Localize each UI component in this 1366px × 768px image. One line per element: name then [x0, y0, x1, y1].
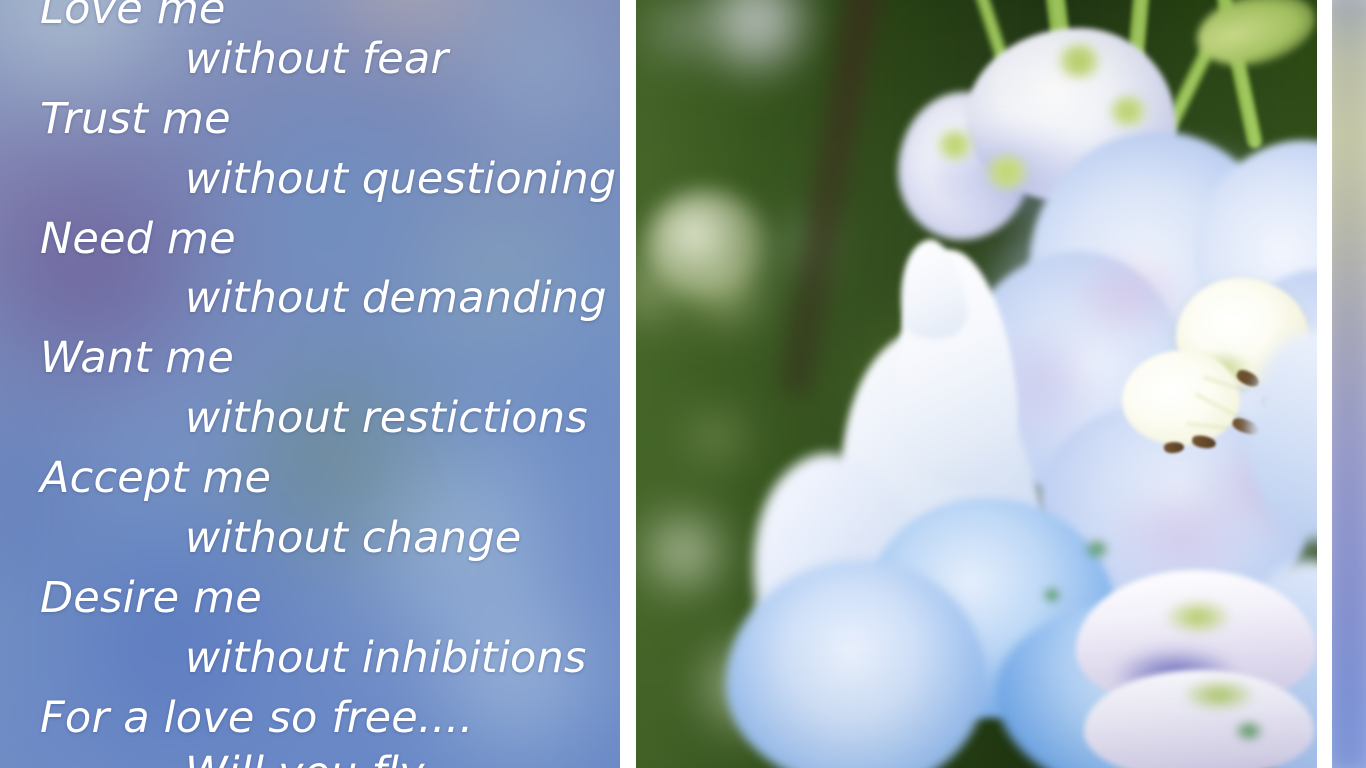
panel-divider-left: [620, 0, 636, 768]
bud-green-marking: [1184, 680, 1254, 710]
collage-canvas: Love me without fear Trust me without qu…: [0, 0, 1366, 768]
sepal-green-spot: [1042, 586, 1062, 604]
background-bud: [646, 190, 766, 300]
bud-green-marking: [984, 155, 1030, 189]
sliver-gradient: [1332, 0, 1366, 768]
poem-line: Love me: [40, 0, 226, 31]
poem-line: Desire me: [40, 577, 262, 620]
bud-green-marking: [936, 130, 974, 160]
bud-green-marking: [1108, 96, 1148, 126]
poem-line: without questioning: [185, 158, 616, 201]
bud-green-marking: [1056, 44, 1102, 78]
sepal-green-spot: [1234, 720, 1264, 742]
panel-divider-right: [1317, 0, 1332, 768]
poem-line: Accept me: [40, 457, 271, 500]
poem-line: For a love so free....: [40, 697, 473, 740]
photo-panel: [636, 0, 1317, 768]
flower-center-bee-lower: [1122, 350, 1240, 445]
poem-line: Will you fly: [185, 752, 425, 768]
poem-line: without fear: [185, 38, 448, 81]
sepal-green-spot: [1084, 538, 1110, 560]
poem-line: without restictions: [185, 397, 588, 440]
poem-panel: Love me without fear Trust me without qu…: [0, 0, 620, 768]
bud-green-marking: [1166, 600, 1230, 634]
poem-line: without inhibitions: [185, 637, 587, 680]
poem-line: without change: [185, 517, 521, 560]
poem-line: without demanding: [185, 277, 607, 320]
poem-text-block: Love me without fear Trust me without qu…: [0, 0, 620, 768]
poem-line: Need me: [40, 218, 236, 261]
sliver-panel: [1332, 0, 1366, 768]
petal-mauve-wash: [1066, 250, 1186, 340]
poem-line: Want me: [40, 337, 234, 380]
poem-line: Trust me: [40, 98, 231, 141]
